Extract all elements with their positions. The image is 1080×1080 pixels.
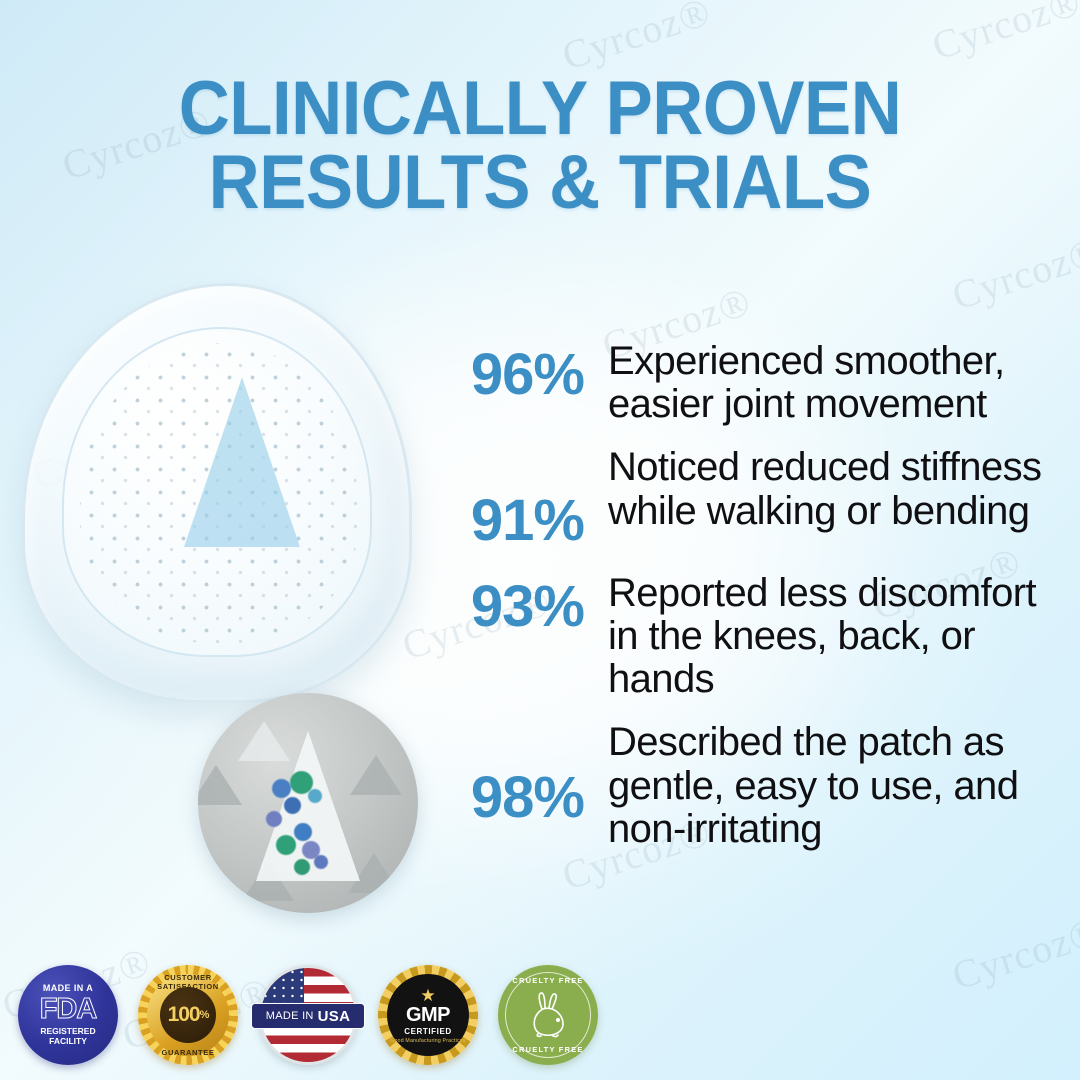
- molecule-dot: [276, 835, 296, 855]
- molecule-dot: [294, 823, 312, 841]
- stat-row: 98% Described the patch as gentle, easy …: [438, 721, 1068, 851]
- satisfaction-value: 100: [168, 1003, 200, 1027]
- stat-row: 96% Experienced smoother, easier joint m…: [438, 340, 1068, 426]
- promo-poster: Cyrcoz® Cyrcoz® Cyrcoz® Cyrcoz® Cyrcoz® …: [0, 0, 1080, 1080]
- molecule-dot: [314, 855, 328, 869]
- watermark-text: Cyrcoz®: [946, 228, 1080, 320]
- headline-line-2: RESULTS & TRIALS: [38, 146, 1042, 220]
- watermark-text: Cyrcoz®: [926, 0, 1080, 69]
- magnified-detail-inset: magnified microstructure view: [198, 693, 418, 913]
- trust-badge-row: MADE IN A FDA REGISTERED FACILITY 100% C…: [18, 960, 598, 1070]
- fda-registered-facility-badge: MADE IN A FDA REGISTERED FACILITY: [18, 965, 118, 1065]
- stat-description: Noticed reduced stiffness while walking …: [608, 446, 1068, 532]
- stat-row: 93% Reported less discomfort in the knee…: [438, 572, 1068, 702]
- molecule-dot: [266, 811, 282, 827]
- badge-label: CUSTOMER SATISFACTION: [138, 973, 238, 991]
- stat-percent: 93%: [438, 572, 608, 637]
- badge-label: GMP: [406, 1005, 450, 1025]
- made-in-usa-badge: MADE INUSA: [258, 965, 358, 1065]
- product-image: magnified microstructure view: [8, 275, 438, 775]
- country-label: USA: [318, 1008, 351, 1025]
- badge-label: CRUELTY FREE: [498, 976, 598, 985]
- molecule-dot: [272, 779, 291, 798]
- fda-logo-icon: FDA: [40, 995, 97, 1024]
- molecule-dot: [294, 859, 310, 875]
- molecule-dot: [308, 789, 322, 803]
- page-title: CLINICALLY PROVEN RESULTS & TRIALS: [0, 72, 1080, 221]
- star-icon: ★: [420, 987, 435, 1004]
- magnifier-cone-icon: [184, 377, 300, 547]
- badge-label: GUARANTEE: [138, 1048, 238, 1057]
- stat-description: Described the patch as gentle, easy to u…: [608, 721, 1068, 851]
- badge-label: MADE IN A: [43, 983, 93, 993]
- gmp-certified-badge: ★ GMP CERTIFIED Good Manufacturing Pract…: [378, 965, 478, 1065]
- cruelty-free-badge: CRUELTY FREE CRUELTY FREE: [498, 965, 598, 1065]
- headline-line-1: CLINICALLY PROVEN: [38, 72, 1042, 146]
- watermark-text: Cyrcoz®: [946, 908, 1080, 1000]
- badge-label: CRUELTY FREE: [498, 1045, 598, 1054]
- badge-label: CERTIFIED: [404, 1027, 452, 1036]
- badge-label: FACILITY: [49, 1037, 87, 1047]
- badge-label: Good Manufacturing Practices: [390, 1038, 465, 1044]
- stat-percent: 91%: [438, 446, 608, 551]
- badge-label: MADE IN: [266, 1010, 314, 1022]
- microneedle-shape: [198, 765, 242, 805]
- stat-percent: 98%: [438, 721, 608, 828]
- stat-description: Experienced smoother, easier joint movem…: [608, 340, 1068, 426]
- molecule-dot: [284, 797, 301, 814]
- stat-row: 91% Noticed reduced stiffness while walk…: [438, 446, 1068, 551]
- stat-description: Reported less discomfort in the knees, b…: [608, 572, 1068, 702]
- customer-satisfaction-badge: 100% CUSTOMER SATISFACTION GUARANTEE: [138, 965, 238, 1065]
- percent-symbol: %: [200, 1009, 209, 1021]
- statistics-list: 96% Experienced smoother, easier joint m…: [438, 340, 1068, 871]
- stat-percent: 96%: [438, 340, 608, 405]
